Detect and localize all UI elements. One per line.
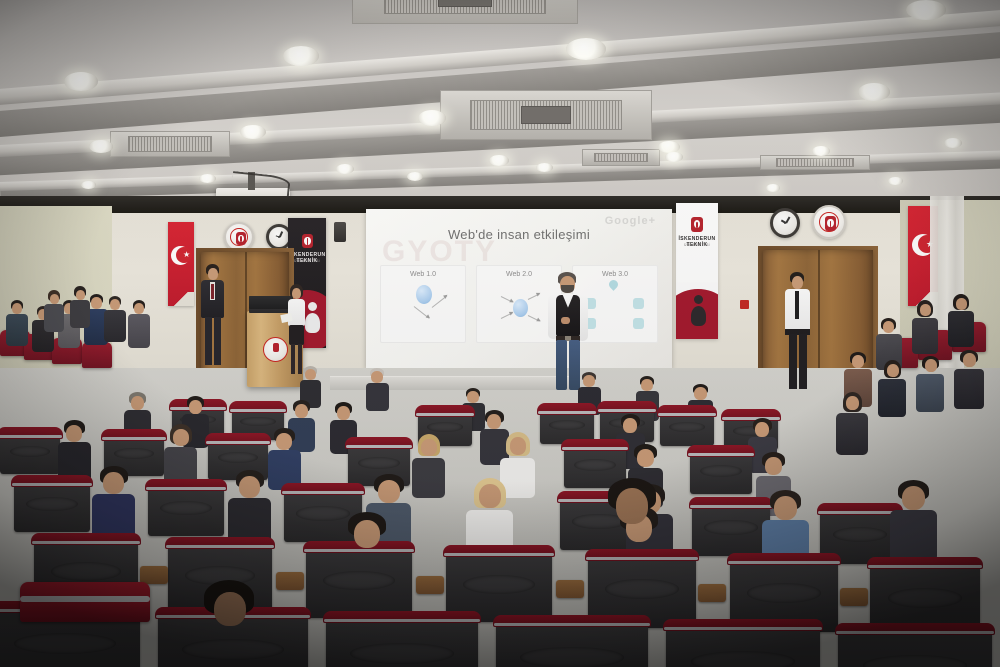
audience-seat — [148, 482, 224, 536]
ceiling-downlight — [418, 110, 446, 126]
web1-person-left — [394, 320, 406, 335]
web2-arrow-br — [528, 315, 540, 322]
audience-member — [366, 368, 390, 410]
web2-arrow-tr — [528, 293, 540, 300]
hvac-vent-3 — [110, 131, 230, 157]
banner-white-right: İSKENDERUN TEKNİK ÜNİVERSİTESİ — [676, 203, 718, 339]
audience-member — [600, 478, 666, 548]
left-usher — [200, 264, 226, 370]
audience-member — [836, 392, 870, 454]
audience-seat — [690, 448, 752, 494]
audience-seat — [14, 478, 90, 532]
slide-panel-web1: Web 1.0 — [380, 265, 466, 343]
seat-armrest — [556, 580, 584, 598]
ceiling-downlight — [89, 140, 113, 153]
ceiling-downlight — [407, 172, 423, 181]
audience-member — [128, 300, 152, 352]
ceiling-downlight — [906, 0, 946, 20]
audience-member — [916, 356, 946, 414]
web1-arrow-left — [414, 306, 430, 318]
presenter-beard — [561, 285, 574, 293]
ceiling-downlight — [944, 138, 962, 148]
audience-member — [104, 296, 128, 346]
web3-pin-icon — [607, 278, 620, 291]
web1-center-node — [416, 285, 432, 304]
audience-member — [58, 420, 92, 480]
projection-screen: GYOTY Google+ Web'de insan etkileşimi We… — [366, 209, 672, 369]
web2-center-node — [513, 299, 528, 317]
lectern-seal-mark — [273, 343, 279, 352]
ceiling-downlight — [489, 155, 509, 166]
audience-seat — [660, 408, 714, 446]
presenter-leg-left — [556, 340, 567, 390]
audience-seat — [692, 500, 770, 556]
exit-sign-right — [740, 300, 749, 309]
audience-member — [164, 424, 198, 484]
audience-member — [340, 512, 396, 564]
seat-armrest — [276, 572, 304, 590]
audience-member — [196, 580, 266, 646]
slide-content: GYOTY Google+ Web'de insan etkileşimi We… — [366, 209, 672, 369]
panel-label-web1: Web 1.0 — [381, 271, 465, 278]
audience-member — [6, 300, 30, 350]
auditorium-scene: ★ İSKENDERUN TEKNİK ÜNİVERSİTESİ İSKENDE… — [0, 0, 1000, 667]
audience-member — [912, 300, 940, 356]
presenter-hand — [561, 317, 570, 324]
web3-icon-d — [633, 318, 644, 329]
hvac-vent-5 — [760, 155, 870, 170]
audience-member — [268, 428, 302, 488]
ceiling-downlight — [566, 38, 606, 60]
audience-seat — [326, 614, 478, 667]
web3-icon-c — [633, 298, 644, 309]
ceiling-downlight — [665, 152, 683, 162]
slide-title: Web'de insan etkileşimi — [366, 227, 672, 242]
audience-member — [228, 470, 272, 546]
hvac-vent-2 — [440, 90, 652, 140]
audience-member — [70, 286, 92, 330]
audience-member — [954, 350, 986, 410]
ceiling-downlight — [858, 83, 890, 101]
university-seal-right — [812, 205, 846, 239]
wall-speaker-left — [334, 222, 346, 242]
seat-armrest — [416, 576, 444, 594]
audience-seat — [0, 430, 60, 474]
audience-member — [92, 466, 136, 542]
ceiling-downlight — [888, 177, 903, 185]
ceiling-downlight — [658, 141, 680, 153]
ceiling-downlight — [283, 46, 319, 66]
audience-member — [878, 360, 908, 418]
seat-cushion — [20, 582, 150, 622]
audience-seat — [666, 622, 820, 667]
seat-cushion-piping — [20, 596, 150, 602]
seat-armrest — [698, 584, 726, 602]
audience-member — [948, 294, 976, 350]
hvac-vent-1 — [352, 0, 578, 24]
ceiling-downlight — [64, 72, 98, 91]
ceiling-downlight — [240, 125, 266, 139]
ceiling-downlight — [81, 181, 96, 189]
audience-seat — [496, 618, 648, 667]
web1-person-right — [441, 320, 453, 335]
web2-arrow-bl — [501, 312, 513, 319]
audience-member — [412, 434, 446, 496]
ceiling-downlight — [536, 163, 553, 172]
web1-arrow-right — [432, 295, 448, 307]
right-usher — [782, 272, 812, 394]
web2-arrow-tl — [501, 296, 513, 303]
ceiling-downlight — [336, 164, 354, 174]
audience-member — [44, 290, 66, 334]
web2-person-bl — [487, 322, 499, 337]
ceiling-downlight — [766, 184, 780, 192]
ceiling-downlight — [812, 146, 830, 156]
seat-armrest — [140, 566, 168, 584]
slide-top-right-text: Google+ — [605, 215, 656, 227]
turkish-flag-left: ★ — [168, 222, 194, 306]
wall-clock-right — [770, 208, 800, 238]
seat-armrest — [840, 588, 868, 606]
ceiling-downlight — [199, 174, 216, 183]
banner-figure-right — [690, 295, 706, 325]
web2-person-tl — [487, 281, 499, 296]
audience-member — [890, 480, 938, 560]
hvac-vent-4 — [582, 149, 660, 166]
banner-white-right-sub: ÜNİVERSİTESİ — [676, 243, 718, 247]
ceiling — [0, 0, 1000, 215]
audience-seat — [838, 626, 992, 667]
